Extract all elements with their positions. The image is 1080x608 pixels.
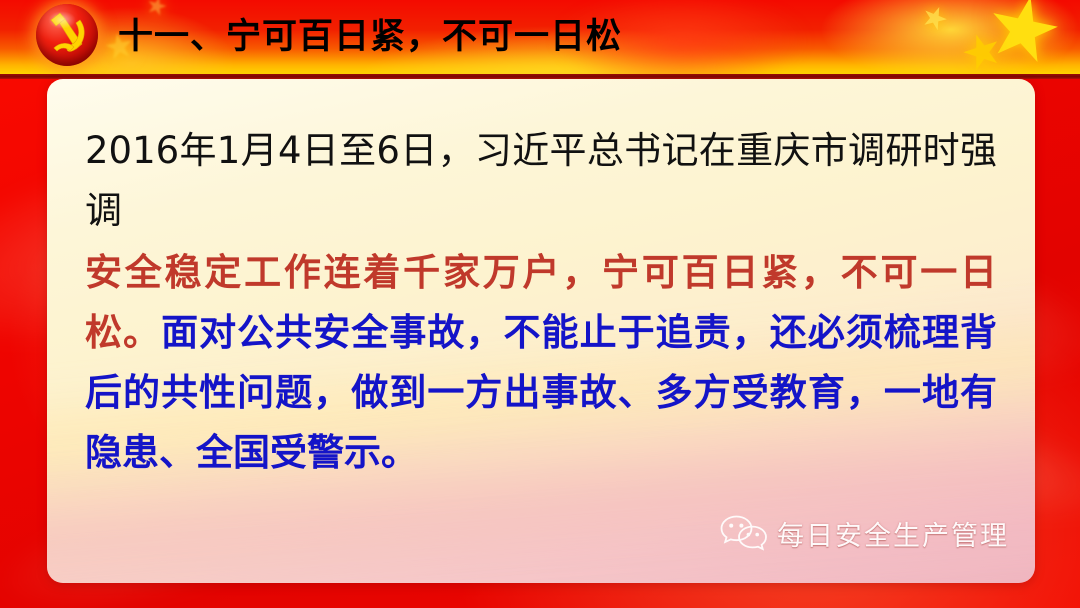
quote-segment-blue: 面对公共安全事故，不能止于追责，还必须梳理背后的共性问题，做到一方出事故、多方受… [85,311,997,474]
ccp-hammer-sickle-emblem-icon [36,4,98,66]
wechat-account-name: 每日安全生产管理 [777,514,1009,553]
wechat-icon [719,513,767,553]
emblem-specular-highlight [48,11,75,30]
page-title: 十一、宁可百日紧，不可一日松 [118,2,622,64]
slide-body: 2016年1月4日至6日，习近平总书记在重庆市调研时强调 安全稳定工作连着千家万… [85,121,997,483]
star-icon: ★ [916,0,952,38]
intro-paragraph: 2016年1月4日至6日，习近平总书记在重庆市调研时强调 [85,121,997,241]
wechat-watermark: 每日安全生产管理 [719,513,1009,553]
quote-paragraph: 安全稳定工作连着千家万户，宁可百日紧，不可一日松。面对公共安全事故，不能止于追责… [85,243,997,483]
slide-root: ★ ★ ★ ★ ★ 十一、宁可百日紧，不可一日松 2016年1月4日至6日，习近… [0,0,1080,608]
content-panel: 2016年1月4日至6日，习近平总书记在重庆市调研时强调 安全稳定工作连着千家万… [47,79,1035,583]
header-banner: ★ ★ ★ ★ ★ 十一、宁可百日紧，不可一日松 [0,0,1080,74]
